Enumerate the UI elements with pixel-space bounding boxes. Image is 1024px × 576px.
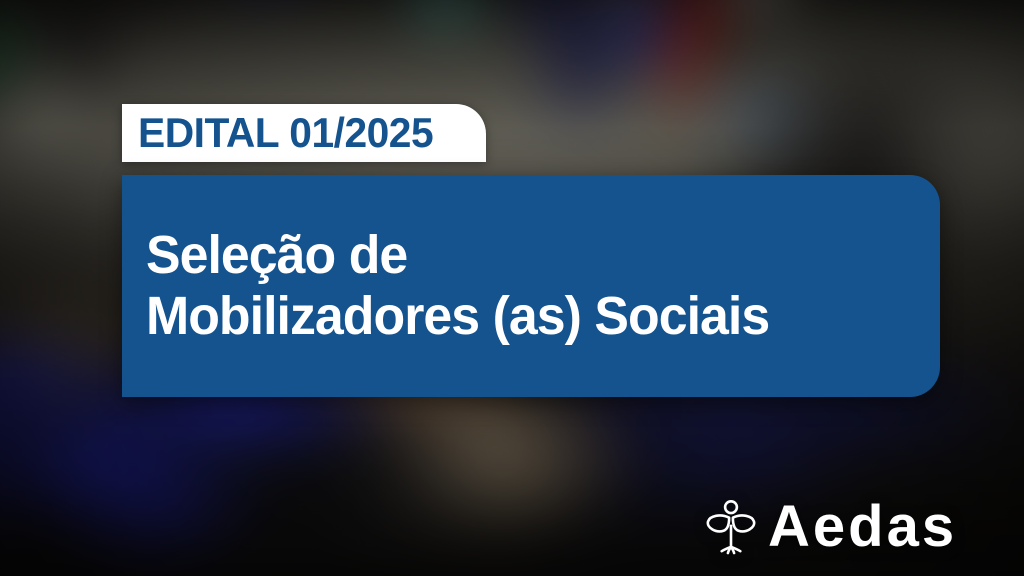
- aedas-wordmark: Aedas: [768, 498, 957, 556]
- title-panel: Seleção de Mobilizadores (as) Sociais: [122, 175, 940, 397]
- poster-canvas: EDITAL 01/2025 Seleção de Mobilizadores …: [0, 0, 1024, 576]
- aedas-sprout-icon: [700, 496, 762, 558]
- title-line-1: Seleção de: [146, 225, 908, 286]
- edital-banner: EDITAL 01/2025: [122, 104, 486, 162]
- title-line-2: Mobilizadores (as) Sociais: [146, 286, 908, 347]
- edital-label: EDITAL 01/2025: [138, 112, 433, 154]
- aedas-logo: Aedas: [700, 496, 957, 558]
